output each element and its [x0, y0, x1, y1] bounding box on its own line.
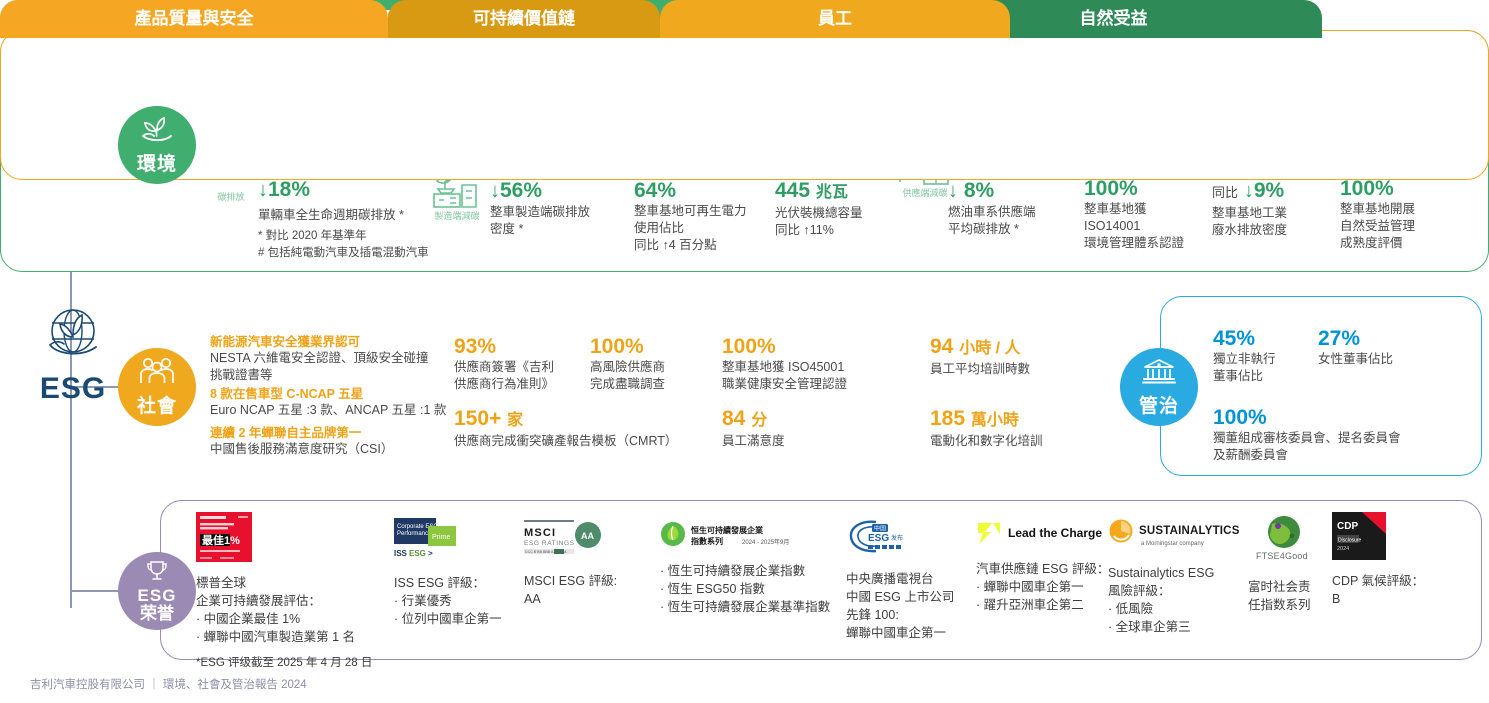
- honor-text-sp-global: 標普全球 企業可持續發展評估： · 中國企業最佳 1% · 蟬聯中國汽車製造業第…: [196, 574, 355, 646]
- bank-columns-icon: [1142, 357, 1176, 390]
- env-stat-11-pre: 同比: [1212, 185, 1238, 200]
- env-stat-12-line-1: 自然受益管理: [1340, 218, 1415, 235]
- honor-item-iss-esg: Corporate ESG Performance Prime ISS ESG …: [394, 518, 502, 628]
- spine-arm-hon: [70, 590, 120, 592]
- env-stat-3-value: 64%: [634, 179, 676, 202]
- honor-item-msci: MSCI ESG RATINGS CCC B BB BBB A AA AAA A…: [524, 520, 617, 608]
- svg-text:>: >: [428, 549, 433, 558]
- honor-item-sp-global: 最佳1% 標普全球 企業可持續發展評估： · 中國企業最佳 1% · 蟬聯中國汽…: [196, 512, 355, 646]
- soc-stat-cmrt: 150+ 家 供應商完成衝突礦產報告模板（CMRT）: [454, 406, 677, 450]
- honor-item-cnr-esg: 中国 ESG 发布 中央廣播電視台 中國 ESG 上市公司 先鋒 100: 蟬聯…: [846, 518, 954, 642]
- gov-stat-2-line-0: 獨董組成審核委員會、提名委員會: [1213, 430, 1401, 447]
- soc-stat-high-risk-dd: 100% 高風險供應商 完成盡職調查: [590, 334, 665, 393]
- soc-stat-3-line-0: 整車基地獲 ISO45001: [722, 359, 847, 376]
- soc-stat-1-line-0: 供應商完成衝突礦產報告模板（CMRT）: [454, 433, 677, 450]
- soc-stat-5-line-0: 員工平均培訓時數: [930, 361, 1030, 378]
- env-stat-wastewater: 同比 ↓9% 整車基地工業 廢水排放密度: [1212, 178, 1287, 239]
- svg-text:a Morningstar company: a Morningstar company: [1141, 541, 1204, 547]
- env-stat-3-line-2: 同比 ↑4 百分點: [634, 237, 747, 254]
- soc-stat-3-line-1: 職業健康安全管理認證: [722, 376, 847, 393]
- env-stat-9-line-0: 整車基地獲: [1084, 201, 1184, 218]
- soc-header-employees: 員工: [660, 0, 1010, 38]
- badge-governance: 管治: [1120, 348, 1198, 426]
- soc-stat-6-unit: 萬小時: [971, 412, 1019, 429]
- honor-text-ftse4good: 富时社会责 任指数系列: [1248, 578, 1320, 614]
- iss-esg-prime-badge: Corporate ESG Performance Prime ISS ESG …: [394, 518, 502, 567]
- env-stat-1-line-0: 整車製造端碳排放: [490, 204, 590, 221]
- svg-text:ISS: ISS: [394, 549, 408, 558]
- env-stat-5-line-0: 光伏裝機總容量: [775, 205, 863, 222]
- env-stat-9-line-1: ISO14001: [1084, 218, 1184, 235]
- soc-stat-6-line-0: 電動化和數字化培訓: [930, 433, 1043, 450]
- soc-stat-2-line-1: 完成盡職調查: [590, 376, 665, 393]
- badge-social-label: 社會: [137, 391, 177, 418]
- svg-text:Disclosure: Disclosure: [1338, 538, 1362, 544]
- soc-stat-5-unit: 小時 / 人: [959, 340, 1020, 357]
- env-note-2: # 包括純電動汽車及插電混動汽車: [258, 245, 429, 262]
- env-stat-5-unit: 兆瓦: [816, 184, 848, 201]
- honor-text-cdp: CDP 氣候評級： B: [1332, 572, 1424, 608]
- badge-honors-label-bottom: 荣誉: [140, 604, 174, 623]
- soc-stat-0-line-1: 供應商行為准則》: [454, 376, 554, 393]
- env-stat-9-value: 100%: [1084, 177, 1138, 200]
- env-stat-7-line-0: 燃油車系供應端: [948, 204, 1036, 221]
- gov-stat-0-value: 45%: [1213, 327, 1255, 350]
- footer-text: 吉利汽車控股有限公司 ｜ 環境、社會及管治報告 2024: [30, 676, 307, 692]
- env-stat-7-value: 8%: [964, 179, 994, 202]
- env-stat-12-line-0: 整車基地開展: [1340, 201, 1415, 218]
- env-stat-renewable-share: 64% 整車基地可再生電力 使用佔比 同比 ↑4 百分點: [634, 178, 747, 254]
- env-stat-1-value: 56%: [500, 179, 542, 202]
- honor-item-lead-the-charge: Lead the Charge 汽車供應鏈 ESG 評級： · 蟬聯中國車企第一…: [976, 520, 1116, 614]
- svg-text:Lead the Charge: Lead the Charge: [1008, 526, 1102, 540]
- soc-header-value-chain: 可持續價值鏈: [388, 0, 660, 38]
- soc-stat-3-value: 100%: [722, 335, 776, 358]
- soc-stat-1-value: 150+: [454, 407, 501, 430]
- soc-quality-head-0: 新能源汽車安全獲業界認可: [210, 333, 360, 351]
- env-stat-12-line-2: 成熟度評價: [1340, 235, 1415, 252]
- svg-text:2024: 2024: [1337, 546, 1349, 552]
- soc-header-quality: 產品質量與安全: [0, 0, 388, 38]
- soc-stat-digital-training: 185 萬小時 電動化和數字化培訓: [930, 406, 1043, 450]
- env-stat-11-line-1: 廢水排放密度: [1212, 222, 1287, 239]
- china-esg-pioneer-badge: 中国 ESG 发布: [846, 518, 954, 563]
- soc-stat-2-line-0: 高風險供應商: [590, 359, 665, 376]
- gov-stat-2-line-1: 及薪酬委員會: [1213, 447, 1401, 464]
- env-stat-ice-supplier-emission: ↓ 8% 燃油車系供應端 平均碳排放 *: [948, 178, 1036, 238]
- soc-stat-1-unit: 家: [507, 412, 523, 429]
- factory-plant-caption: 製造端減碳: [427, 209, 487, 222]
- svg-text:2024 - 2025年9月: 2024 - 2025年9月: [742, 538, 789, 546]
- honor-text-cnr-esg: 中央廣播電視台 中國 ESG 上市公司 先鋒 100: 蟬聯中國車企第一: [846, 570, 954, 642]
- hang-seng-sustainability-index-badge: 恒生可持續發展企業 指數系列 2024 - 2025年9月: [660, 520, 830, 555]
- honor-item-cdp: CDP Disclosure 2024 CDP 氣候評級： B: [1332, 512, 1424, 608]
- svg-text:CDP: CDP: [1337, 521, 1358, 532]
- soc-quality-head-2: 連續 2 年蟬聯自主品牌第一: [210, 424, 361, 442]
- soc-stat-training-hours: 94 小時 / 人 員工平均培訓時數: [930, 334, 1030, 378]
- globe-plant-hand-icon: [8, 305, 138, 368]
- sp-global-top1pct-badge: 最佳1%: [196, 512, 355, 567]
- soc-stat-6-value: 185: [930, 407, 965, 430]
- honor-item-sustainalytics: SUSTAINALYTICS a Morningstar company Sus…: [1108, 518, 1250, 636]
- social-panel-body: [0, 30, 1489, 180]
- env-stat-12-value: 100%: [1340, 177, 1394, 200]
- gov-stat-ined-ratio: 45% 獨立非執行 董事佔比: [1213, 326, 1276, 385]
- gov-stat-0-line-0: 獨立非執行: [1213, 351, 1276, 368]
- env-stat-nature-positive: 100% 整車基地開展 自然受益管理 成熟度評價: [1340, 176, 1415, 252]
- soc-stat-0-value: 93%: [454, 335, 496, 358]
- lead-the-charge-badge: Lead the Charge: [976, 520, 1116, 553]
- soc-stat-4-unit: 分: [751, 412, 767, 429]
- honor-text-hang-seng: · 恆生可持續發展企業指數 · 恆生 ESG50 指數 · 恆生可持續發展企業基…: [660, 562, 830, 616]
- env-stat-11-value: 9%: [1254, 179, 1284, 202]
- svg-text:中国: 中国: [874, 525, 886, 533]
- badge-social: 社會: [118, 348, 196, 426]
- svg-text:CCC B BB BBB A AA AAA: CCC B BB BBB A AA AAA: [525, 550, 567, 554]
- svg-text:SUSTAINALYTICS: SUSTAINALYTICS: [1139, 525, 1240, 537]
- svg-text:ESG RATINGS: ESG RATINGS: [524, 540, 575, 547]
- gov-stat-1-value: 27%: [1318, 327, 1360, 350]
- sustainalytics-badge: SUSTAINALYTICS a Morningstar company: [1108, 518, 1250, 557]
- gov-stat-0-line-1: 董事佔比: [1213, 368, 1276, 385]
- honors-note: *ESG 评级截至 2025 年 4 月 28 日: [196, 654, 372, 670]
- svg-text:AA: AA: [581, 531, 594, 541]
- env-note-1: * 對比 2020 年基準年: [258, 228, 367, 245]
- env-target-2024-value: 18%: [268, 178, 310, 201]
- badge-environment-label: 環境: [137, 149, 177, 176]
- soc-quality-body-1: Euro NCAP 五星 :3 款、ANCAP 五星 :1 款: [210, 402, 446, 419]
- svg-text:ESG: ESG: [409, 549, 426, 558]
- soc-stat-2-value: 100%: [590, 335, 644, 358]
- env-stat-3-line-1: 使用佔比: [634, 220, 747, 237]
- honor-text-lead-the-charge: 汽車供應鏈 ESG 評級： · 蟬聯中國車企第一 · 躍升亞洲車企第二: [976, 560, 1116, 614]
- badge-honors: ESG 荣誉: [118, 552, 196, 630]
- honor-text-sustainalytics: Sustainalytics ESG 風險評級： · 低風險 · 全球車企第三: [1108, 564, 1250, 636]
- hand-plant-icon: [140, 115, 174, 148]
- honor-item-ftse4good: FTSE4Good 富时社会责 任指数系列: [1248, 512, 1320, 614]
- gov-stat-1-line-0: 女性董事佔比: [1318, 351, 1393, 368]
- svg-text:FTSE4Good: FTSE4Good: [1256, 551, 1308, 561]
- svg-text:MSCI: MSCI: [524, 527, 556, 539]
- co2-icon-caption: 碳排放: [203, 190, 259, 203]
- svg-text:Performance: Performance: [397, 531, 432, 537]
- env-stat-5-line-1: 同比 ↑11%: [775, 222, 863, 239]
- svg-text:发布: 发布: [891, 534, 903, 542]
- env-stat-1-line-1: 密度 *: [490, 221, 590, 238]
- honor-text-iss-esg: ISS ESG 評級： · 行業優秀 · 位列中國車企第一: [394, 574, 502, 628]
- soc-quality-body-2: 中國售後服務滿意度研究（CSI）: [210, 441, 393, 458]
- svg-text:Prime: Prime: [432, 534, 450, 541]
- people-group-icon: [139, 357, 175, 390]
- cdp-disclosure-badge: CDP Disclosure 2024: [1332, 512, 1424, 565]
- env-stat-3-line-0: 整車基地可再生電力: [634, 203, 747, 220]
- honor-item-hang-seng: 恒生可持續發展企業 指數系列 2024 - 2025年9月 · 恆生可持續發展企…: [660, 520, 830, 616]
- soc-stat-5-value: 94: [930, 335, 953, 358]
- svg-text:ESG: ESG: [868, 533, 889, 544]
- soc-stat-satisfaction: 84 分 員工滿意度: [722, 406, 785, 450]
- soc-stat-iso45001: 100% 整車基地獲 ISO45001 職業健康安全管理認證: [722, 334, 847, 393]
- badge-environment: 環境: [118, 106, 196, 184]
- env-stat-11-line-0: 整車基地工業: [1212, 205, 1287, 222]
- env-stat-7-line-1: 平均碳排放 *: [948, 221, 1036, 238]
- badge-honors-label-top: ESG: [138, 587, 177, 604]
- soc-quality-body-0: NESTA 六維電安全認證、頂級安全碰撞 挑戰證書等: [210, 350, 429, 384]
- svg-text:最佳1%: 最佳1%: [202, 533, 240, 547]
- env-target-caption: 單輛車全生命週期碳排放 *: [258, 207, 404, 224]
- gov-stat-2-value: 100%: [1213, 406, 1267, 429]
- env-stat-9-line-2: 環境管理體系認證: [1084, 235, 1184, 252]
- gov-stat-committees: 100% 獨董組成審核委員會、提名委員會 及薪酬委員會: [1213, 405, 1401, 464]
- soc-stat-4-line-0: 員工滿意度: [722, 433, 785, 450]
- env-stat-pv-capacity: 445 兆瓦 光伏裝機總容量 同比 ↑11%: [775, 178, 863, 239]
- soc-stat-0-line-0: 供應商簽署《吉利: [454, 359, 554, 376]
- ftse4good-badge: FTSE4Good: [1248, 512, 1320, 571]
- svg-text:指數系列: 指數系列: [691, 536, 723, 546]
- gov-stat-female-directors: 27% 女性董事佔比: [1318, 326, 1393, 368]
- trophy-icon: [143, 559, 171, 588]
- svg-text:恒生可持續發展企業: 恒生可持續發展企業: [691, 525, 764, 535]
- soc-quality-head-1: 8 款在售車型 C-NCAP 五星: [210, 385, 363, 403]
- env-stat-manufacturing-intensity: ↓56% 整車製造端碳排放 密度 *: [490, 178, 590, 238]
- honor-text-msci: MSCI ESG 評級: AA: [524, 572, 617, 608]
- soc-stat-4-value: 84: [722, 407, 745, 430]
- soc-stat-supplier-code: 93% 供應商簽署《吉利 供應商行為准則》: [454, 334, 554, 393]
- badge-governance-label: 管治: [1139, 391, 1179, 418]
- env-stat-iso14001: 100% 整車基地獲 ISO14001 環境管理體系認證: [1084, 176, 1184, 252]
- msci-esg-ratings-aa-badge: MSCI ESG RATINGS CCC B BB BBB A AA AAA A…: [524, 520, 617, 565]
- env-stat-5-value: 445: [775, 179, 810, 202]
